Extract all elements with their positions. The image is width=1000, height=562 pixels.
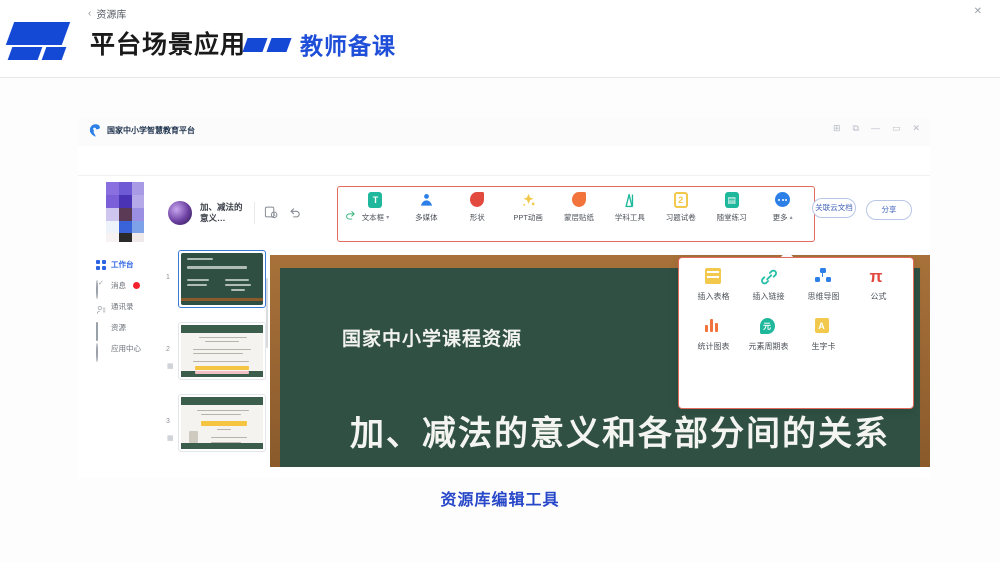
document-header: 加、减法的意义… <box>168 192 343 234</box>
thumbnail-row[interactable]: 3 ▦ <box>166 394 268 456</box>
link-icon <box>760 268 778 286</box>
grid-icon <box>96 260 106 270</box>
thumbnail-scrollbar[interactable] <box>266 278 268 348</box>
banner-logo-icon <box>8 22 80 60</box>
sidebar-item-label: 应用中心 <box>111 343 141 354</box>
slide-title: 加、减法的意义和各部分间的关系 <box>350 406 890 455</box>
toolbar-item-more[interactable]: 更多▴ <box>757 192 808 223</box>
sticker-icon <box>571 192 588 209</box>
sidebar-item-app-center[interactable]: 应用中心 <box>94 338 156 359</box>
apps-icon <box>96 344 106 354</box>
character-card-icon: A <box>815 318 833 336</box>
thumbnail-row[interactable]: 2 ▦ <box>166 322 268 384</box>
app-brand: 国家中小学智慧教育平台 <box>88 123 195 138</box>
subject-tools-icon <box>621 192 638 209</box>
breadcrumb[interactable]: ‹ 资源库 <box>88 6 126 21</box>
more-item-label: 插入链接 <box>753 291 785 302</box>
chevron-up-icon: ▴ <box>790 214 793 221</box>
toolbar-item-label: 习题试卷 <box>666 212 696 223</box>
close-window-icon[interactable]: ✕ <box>912 124 920 133</box>
app-titlebar: 国家中小学智慧教育平台 ⊞ ⧉ — ▭ ✕ <box>78 118 930 146</box>
animation-icon <box>520 192 537 209</box>
toolbar-item-shape[interactable]: 形状 <box>452 192 503 223</box>
slide-thumbnail-panel: 1 2 ▦ <box>166 250 268 466</box>
more-item-label: 插入表格 <box>698 291 730 302</box>
app-brand-name: 国家中小学智慧教育平台 <box>107 125 195 136</box>
more-item-insert-link[interactable]: 插入链接 <box>741 268 796 302</box>
back-chevron-icon[interactable]: ‹ <box>88 8 91 19</box>
more-item-label: 统计图表 <box>698 341 730 352</box>
more-item-character-card[interactable]: A 生字卡 <box>796 318 851 352</box>
toolbar-item-ppt-animation[interactable]: PPT动画 <box>503 192 554 223</box>
media-icon <box>418 192 435 209</box>
left-sidebar: 工作台 消息 通讯录 资源 应用中心 <box>88 182 156 392</box>
practice-icon: ▤ <box>723 192 740 209</box>
close-panel-icon[interactable]: ✕ <box>974 6 982 17</box>
toolbar-item-label: 学科工具 <box>615 212 645 223</box>
divider <box>254 202 255 224</box>
thumbnail-number: 2 <box>166 346 170 353</box>
more-item-periodic-table[interactable]: 元 元素周期表 <box>741 318 796 352</box>
banner-title: 平台场景应用 <box>90 25 246 61</box>
bar-chart-icon <box>705 318 723 336</box>
thumbnail-note-icon: ▦ <box>167 434 174 442</box>
share-button[interactable]: 分享 <box>866 200 912 220</box>
thumbnail-number: 1 <box>166 274 170 281</box>
window-controls[interactable]: ⊞ ⧉ — ▭ ✕ <box>833 124 920 133</box>
breadcrumb-label[interactable]: 资源库 <box>96 6 126 21</box>
platform-logo-icon <box>88 123 103 138</box>
sidebar-item-resources[interactable]: 资源 <box>94 317 156 338</box>
toolbar-item-label: 随堂练习 <box>717 212 747 223</box>
cloud-doc-button[interactable]: 关联云文档 <box>812 198 856 218</box>
thumbnail-number: 3 <box>166 418 170 425</box>
more-item-statistics-chart[interactable]: 统计图表 <box>686 318 741 352</box>
layout-icon[interactable]: ⊞ <box>833 124 841 133</box>
history-icon[interactable] <box>263 205 279 221</box>
toolbar-item-exam-paper[interactable]: 2 习题试卷 <box>655 192 706 223</box>
thumbnail-slide-2[interactable] <box>178 322 266 380</box>
thumbnail-note-icon: ▦ <box>167 362 174 370</box>
periodic-table-icon: 元 <box>760 318 778 336</box>
exam-paper-icon: 2 <box>672 192 689 209</box>
more-item-label: 思维导图 <box>808 291 840 302</box>
sidebar-item-label: 工作台 <box>111 259 134 270</box>
toolbar-item-practice[interactable]: ▤ 随堂练习 <box>706 192 757 223</box>
banner-divider <box>0 77 1000 78</box>
thumbnail-row[interactable]: 1 <box>166 250 268 312</box>
screenshot-root: 平台场景应用 教师备课 国家中小学智慧教育平台 ⊞ ⧉ — ▭ ✕ <box>0 0 1000 562</box>
sidebar-item-workbench[interactable]: 工作台 <box>94 254 156 275</box>
sidebar-item-label: 消息 <box>111 280 126 291</box>
table-icon <box>705 268 723 286</box>
split-icon[interactable]: ⧉ <box>853 124 859 133</box>
sidebar-nav: 工作台 消息 通讯录 资源 应用中心 <box>94 254 156 359</box>
file-icon <box>96 323 106 333</box>
more-item-label: 公式 <box>871 291 887 302</box>
sidebar-avatar-art <box>106 182 144 242</box>
minimize-icon[interactable]: — <box>871 124 880 133</box>
editor-toolbar: T 文本框▾ 多媒体 形状 PPT动画 蒙层贴纸 <box>350 192 808 238</box>
bell-check-icon <box>96 281 106 291</box>
more-item-mindmap[interactable]: 思维导图 <box>796 268 851 302</box>
more-item-insert-table[interactable]: 插入表格 <box>686 268 741 302</box>
undo-icon[interactable] <box>287 205 303 221</box>
toolbar-item-label: 更多 <box>773 212 788 223</box>
banner-subtitle: 教师备课 <box>300 27 396 61</box>
chevron-down-icon: ▾ <box>386 214 389 221</box>
thumbnail-slide-1[interactable] <box>178 250 266 308</box>
sidebar-item-label: 资源 <box>111 322 126 333</box>
document-avatar <box>168 201 192 225</box>
textbox-icon: T <box>367 192 384 209</box>
thumbnail-slide-3[interactable] <box>178 394 266 452</box>
toolbar-item-label: PPT动画 <box>513 212 543 223</box>
toolbar-item-label: 文本框 <box>362 212 385 223</box>
more-item-label: 生字卡 <box>812 341 836 352</box>
slide-heading: 国家中小学课程资源 <box>342 324 522 351</box>
document-title[interactable]: 加、减法的意义… <box>200 202 246 225</box>
toolbar-item-subject-tools[interactable]: 学科工具 <box>604 192 655 223</box>
toolbar-item-textbox[interactable]: T 文本框▾ <box>350 192 401 223</box>
more-item-label: 元素周期表 <box>749 341 789 352</box>
sidebar-item-messages[interactable]: 消息 <box>94 275 156 296</box>
maximize-icon[interactable]: ▭ <box>892 124 901 133</box>
mindmap-icon <box>815 268 833 286</box>
toolbar-item-sticker[interactable]: 蒙层贴纸 <box>554 192 605 223</box>
page-banner: 平台场景应用 教师备课 <box>0 0 1000 78</box>
more-icon <box>774 192 791 209</box>
toolbar-item-label: 蒙层贴纸 <box>564 212 594 223</box>
banner-separator-icon <box>245 38 291 52</box>
unread-badge <box>133 282 140 289</box>
contacts-icon <box>96 302 106 312</box>
toolbar-item-media[interactable]: 多媒体 <box>401 192 452 223</box>
toolbar-item-label: 多媒体 <box>415 212 438 223</box>
formula-pi-icon: π <box>870 268 888 286</box>
toolbar-item-label: 形状 <box>470 212 485 223</box>
sidebar-item-label: 通讯录 <box>111 301 134 312</box>
figure-caption: 资源库编辑工具 <box>0 486 1000 510</box>
more-menu-grid: 插入表格 插入链接 思维导图 π 公式 统计图表 元 元素周期表 A 生字卡 <box>686 268 906 368</box>
breadcrumb-bar <box>78 150 930 176</box>
shape-icon <box>469 192 486 209</box>
more-item-formula[interactable]: π 公式 <box>851 268 906 302</box>
sidebar-item-contacts[interactable]: 通讯录 <box>94 296 156 317</box>
